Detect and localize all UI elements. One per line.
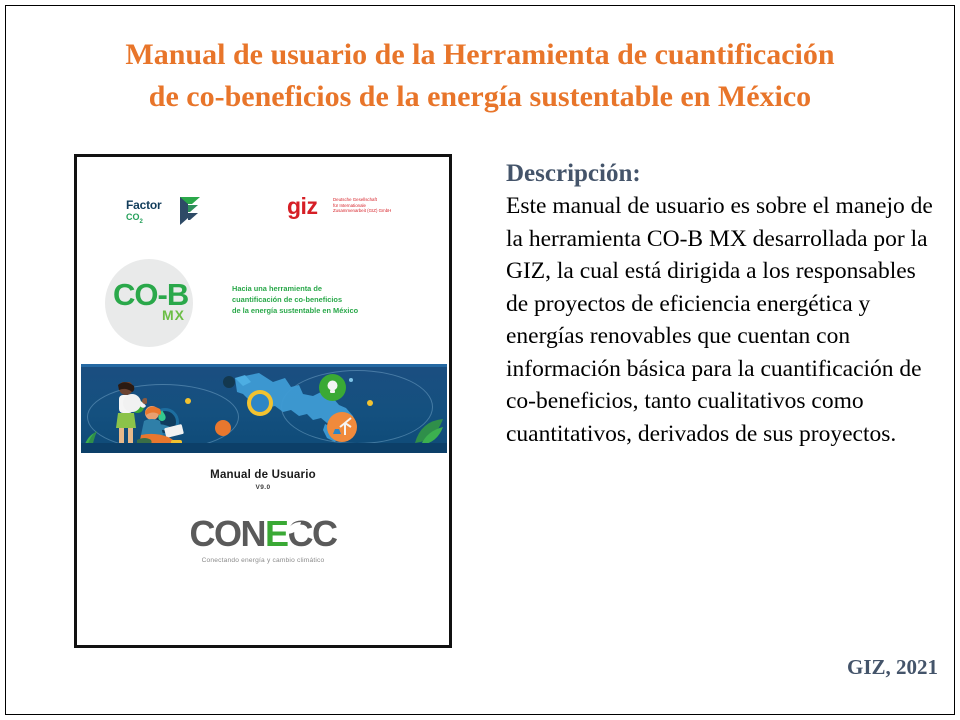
lightbulb-icon [319, 374, 346, 401]
cob-mx-wordmark: CO-B MX [113, 279, 188, 323]
factor-co2-logo: Factor CO2 [126, 195, 204, 231]
chat-bubble-icon [123, 394, 141, 412]
accent-dot-4 [349, 378, 353, 382]
description-heading: Descripción: [506, 158, 942, 189]
cob-tagline-line-2: cuantificación de co-beneficios [232, 294, 447, 305]
page-title-line-2: de co-beneficios de la energía sustentab… [30, 76, 930, 118]
accent-dot-3 [367, 400, 373, 406]
manual-version: V9.0 [77, 484, 449, 491]
book-cover-image: Factor CO2 giz Deutsche Gesellschaft fü [74, 154, 452, 648]
factor-co2-word: CO2 [126, 212, 161, 228]
cover-logo-row: Factor CO2 giz Deutsche Gesellschaft fü [77, 195, 449, 233]
conecc-part-2: E [265, 513, 288, 554]
factor-co2-subscript: 2 [140, 219, 143, 225]
factor-co2-logo-text: Factor CO2 [126, 199, 161, 228]
solar-wind-icon [327, 412, 357, 442]
conecc-wordmark: CONECC [77, 515, 449, 553]
conecc-tagline: Conectando energía y cambio climático [77, 557, 449, 564]
cob-tagline-line-1: Hacia una herramienta de [232, 283, 447, 294]
energy-icon [247, 390, 273, 416]
cob-mx-brand-block: CO-B MX Hacia una herramienta de cuantif… [77, 265, 449, 345]
credit-label: GIZ, 2021 [847, 655, 938, 680]
illustration-ground [81, 443, 447, 453]
giz-wordmark: giz [287, 193, 317, 219]
factor-word: Factor [126, 199, 161, 211]
factor-co2-letters: CO [126, 212, 140, 222]
giz-subtitle: Deutsche Gesellschaft für Internationale… [333, 197, 417, 214]
dark-badge-icon [223, 376, 235, 388]
gear-icon [215, 420, 231, 436]
energy-icon-inner [251, 394, 269, 412]
manual-title: Manual de Usuario [77, 469, 449, 481]
conecc-logo: CONECC Conectando energía y cambio climá… [77, 515, 449, 571]
page-title-line-1: Manual de usuario de la Herramienta de c… [125, 38, 834, 71]
giz-logo: giz Deutsche Gesellschaft für Internatio… [287, 193, 417, 227]
cob-tagline: Hacia una herramienta de cuantificación … [232, 283, 447, 317]
cover-illustration [81, 364, 447, 453]
illustration-top-band [81, 364, 447, 367]
description-block: Descripción: Este manual de usuario es s… [506, 158, 942, 450]
cob-mx-text: MX [162, 308, 188, 323]
cob-main-text: CO-B [113, 279, 188, 310]
factor-arrow-icon [178, 196, 202, 226]
description-body: Este manual de usuario es sobre el manej… [506, 190, 942, 450]
giz-subtitle-line-3: Zusammenarbeit (GIZ) GmbH [333, 208, 417, 214]
conecc-leaf-icon [286, 521, 302, 535]
cover-canvas: Factor CO2 giz Deutsche Gesellschaft fü [77, 157, 449, 645]
page-title: Manual de usuario de la Herramienta de c… [30, 34, 930, 118]
cob-tagline-line-3: de la energía sustentable en México [232, 305, 447, 316]
slide-root: Manual de usuario de la Herramienta de c… [0, 0, 960, 720]
conecc-part-1: CON [189, 513, 265, 554]
